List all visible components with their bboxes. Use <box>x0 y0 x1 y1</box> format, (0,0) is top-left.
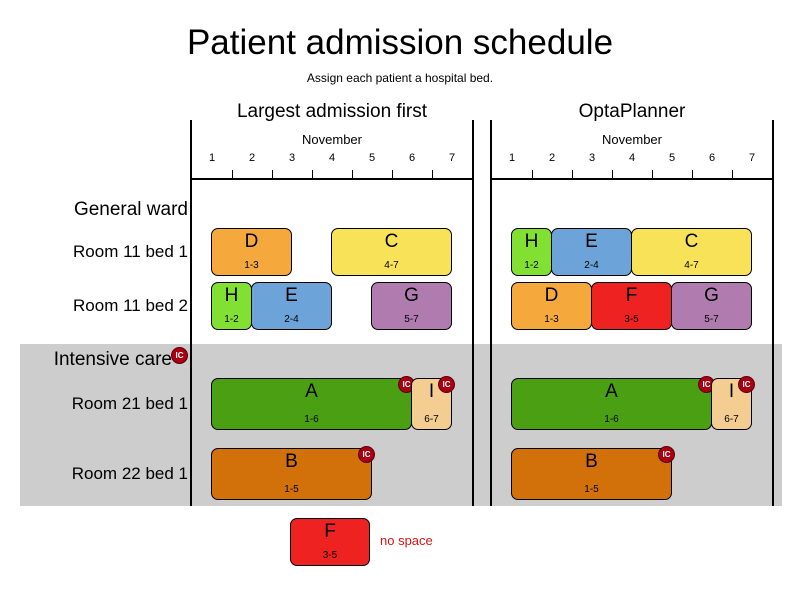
panel-divider-rule <box>772 120 774 506</box>
section-label-text: Intensive care <box>54 349 172 370</box>
patient-bar[interactable]: C4-7 <box>631 228 752 276</box>
axis-tick-mark <box>352 170 353 179</box>
axis-tick-label: 1 <box>192 150 232 166</box>
patient-bar[interactable]: H1-2 <box>211 282 252 330</box>
section-label-general-ward: General ward <box>74 198 188 222</box>
patient-bar-range: 6-7 <box>712 414 751 426</box>
axis-tick-label: 1 <box>492 150 532 166</box>
patient-bar-range: 1-3 <box>512 314 591 326</box>
patient-bar-range: 1-2 <box>212 314 251 326</box>
axis-tick-mark <box>732 170 733 179</box>
time-axis: November1234567 <box>192 132 472 180</box>
axis-tick-label: 2 <box>532 150 572 166</box>
patient-bar[interactable]: E2-4 <box>251 282 332 330</box>
axis-tick-label: 7 <box>732 150 772 166</box>
axis-tick-mark <box>232 170 233 179</box>
patient-bar-name: C <box>632 231 751 253</box>
patient-bar[interactable]: B1-5IC <box>511 448 672 500</box>
axis-tick-mark <box>572 170 573 179</box>
no-space-note: no space <box>380 533 433 549</box>
section-label-text: General ward <box>74 199 188 220</box>
patient-bar[interactable]: E2-4 <box>551 228 632 276</box>
patient-bar[interactable]: G5-7 <box>371 282 452 330</box>
patient-bar-range: 2-4 <box>552 260 631 272</box>
patient-bar-name: A <box>512 381 711 403</box>
patient-bar[interactable]: D1-3 <box>211 228 292 276</box>
patient-bar[interactable]: A1-6IC <box>211 378 412 430</box>
axis-tick-mark <box>692 170 693 179</box>
patient-bar[interactable]: B1-5IC <box>211 448 372 500</box>
axis-tick-mark <box>432 170 433 179</box>
unassigned-patient-bar[interactable]: F3-5 <box>290 518 370 566</box>
patient-bar-range: 5-7 <box>372 314 451 326</box>
axis-baseline <box>192 178 472 180</box>
patient-bar-range: 4-7 <box>332 260 451 272</box>
patient-bar[interactable]: I6-7IC <box>711 378 752 430</box>
axis-tick-labels: 1234567 <box>192 150 472 166</box>
intensive-care-badge-icon: IC <box>738 376 755 393</box>
patient-bar-name: E <box>252 285 331 307</box>
row-labels-column: General wardRoom 11 bed 1Room 11 bed 2In… <box>0 0 188 600</box>
patient-bar-name: C <box>332 231 451 253</box>
section-label-intensive-care: Intensive careIC <box>54 348 188 372</box>
axis-month-label: November <box>492 132 772 148</box>
patient-bar[interactable]: I6-7IC <box>411 378 452 430</box>
patient-bar-range: 1-3 <box>212 260 291 272</box>
patient-bar[interactable]: A1-6IC <box>511 378 712 430</box>
patient-bar-range: 1-2 <box>512 260 551 272</box>
intensive-care-badge-icon: IC <box>438 376 455 393</box>
patient-bar[interactable]: D1-3 <box>511 282 592 330</box>
axis-tick-label: 5 <box>652 150 692 166</box>
axis-tick-label: 5 <box>352 150 392 166</box>
axis-tick-labels: 1234567 <box>492 150 772 166</box>
axis-tick-mark <box>612 170 613 179</box>
bed-label-room-11-bed-1: Room 11 bed 1 <box>73 241 188 263</box>
bed-label-room-11-bed-2: Room 11 bed 2 <box>73 295 188 317</box>
schedule-figure: Patient admission schedule Assign each p… <box>0 0 800 600</box>
axis-tick-label: 4 <box>312 150 352 166</box>
axis-tick-label: 7 <box>432 150 472 166</box>
patient-bar-name: D <box>212 231 291 253</box>
axis-tick-label: 3 <box>572 150 612 166</box>
patient-bar-range: 6-7 <box>412 414 451 426</box>
axis-tick-label: 6 <box>392 150 432 166</box>
patient-bar-range: 1-5 <box>212 484 371 496</box>
axis-month-label: November <box>192 132 472 148</box>
axis-tick-label: 6 <box>692 150 732 166</box>
panel-title-largest-admission-first: Largest admission first <box>192 100 472 124</box>
patient-bar-range: 3-5 <box>592 314 671 326</box>
panel-divider-rule <box>490 120 492 506</box>
patient-bar[interactable]: G5-7 <box>671 282 752 330</box>
patient-bar-name: H <box>512 231 551 253</box>
axis-tick-mark <box>652 170 653 179</box>
panel-title-optaplanner: OptaPlanner <box>492 100 772 124</box>
intensive-care-badge-icon: IC <box>658 446 675 463</box>
axis-tick-mark <box>532 170 533 179</box>
axis-tick-mark <box>392 170 393 179</box>
bed-label-room-22-bed-1: Room 22 bed 1 <box>72 463 188 485</box>
patient-bar-name: G <box>372 285 451 307</box>
patient-bar-name: B <box>512 451 671 473</box>
axis-baseline <box>492 178 772 180</box>
patient-bar-name: B <box>212 451 371 473</box>
axis-tick-mark <box>272 170 273 179</box>
panel-divider-rule <box>190 120 192 506</box>
patient-bar-range: 1-5 <box>512 484 671 496</box>
unassigned-patient-name: F <box>291 521 369 543</box>
intensive-care-badge-icon: IC <box>171 347 188 364</box>
patient-bar-name: E <box>552 231 631 253</box>
bed-label-room-21-bed-1: Room 21 bed 1 <box>72 393 188 415</box>
axis-tick-label: 3 <box>272 150 312 166</box>
patient-bar-range: 4-7 <box>632 260 751 272</box>
patient-bar-range: 2-4 <box>252 314 331 326</box>
patient-bar-range: 1-6 <box>512 414 711 426</box>
patient-bar-name: G <box>672 285 751 307</box>
panel-divider-rule <box>472 120 474 506</box>
patient-bar-name: D <box>512 285 591 307</box>
patient-bar-range: 1-6 <box>212 414 411 426</box>
time-axis: November1234567 <box>492 132 772 180</box>
patient-bar-name: H <box>212 285 251 307</box>
patient-bar[interactable]: C4-7 <box>331 228 452 276</box>
patient-bar-name: A <box>212 381 411 403</box>
patient-bar[interactable]: F3-5 <box>591 282 672 330</box>
intensive-care-badge-icon: IC <box>358 446 375 463</box>
unassigned-patient-range: 3-5 <box>291 550 369 562</box>
axis-tick-label: 4 <box>612 150 652 166</box>
axis-tick-mark <box>312 170 313 179</box>
patient-bar[interactable]: H1-2 <box>511 228 552 276</box>
patient-bar-name: F <box>592 285 671 307</box>
axis-tick-label: 2 <box>232 150 272 166</box>
patient-bar-range: 5-7 <box>672 314 751 326</box>
